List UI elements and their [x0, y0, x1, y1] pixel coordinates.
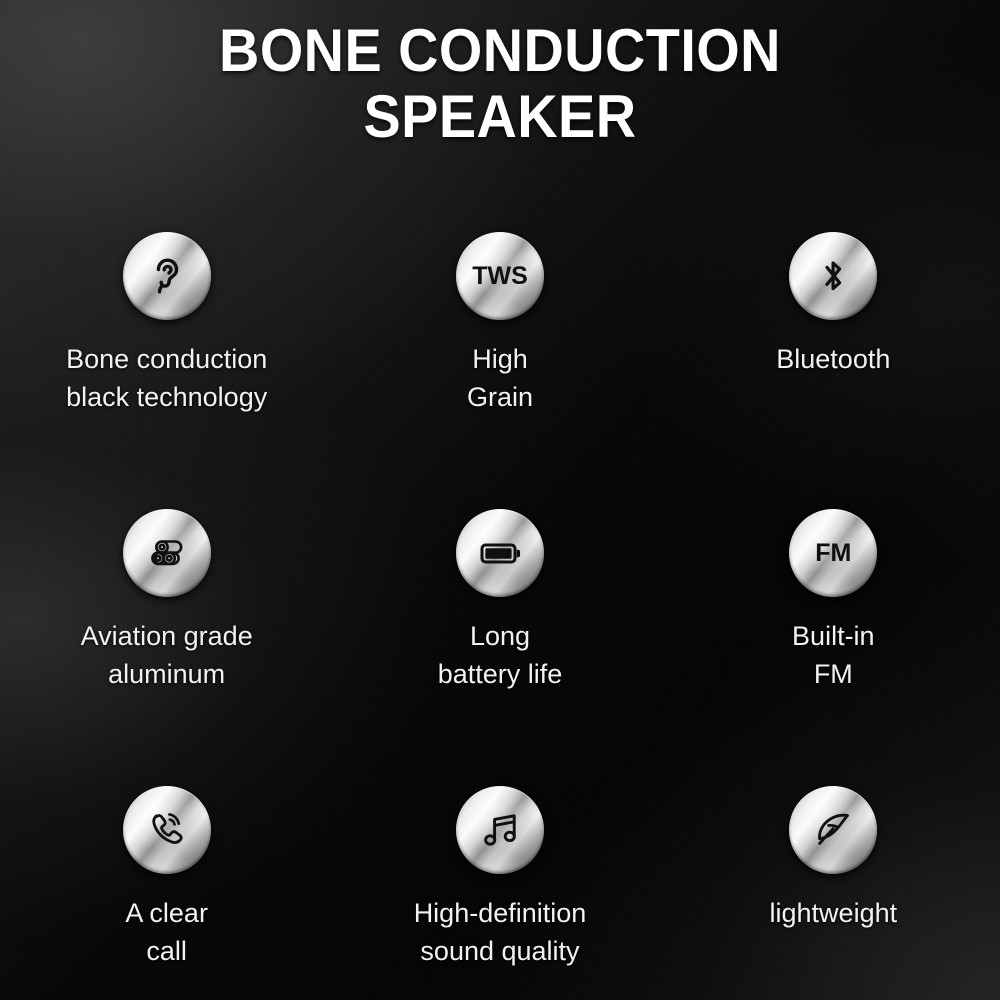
- tws-text-icon: TWS: [472, 264, 528, 289]
- feature-item-bluetooth[interactable]: Bluetooth: [667, 232, 1000, 509]
- feature-row-1: Bone conduction black technology TWS Hig…: [0, 232, 1000, 509]
- feature-icon-disc: [123, 232, 211, 320]
- feature-item-high-grain[interactable]: TWS High Grain: [333, 232, 666, 509]
- feature-item-bone-conduction[interactable]: Bone conduction black technology: [0, 232, 333, 509]
- feature-icon-disc: [789, 232, 877, 320]
- title-line-1: BONE CONDUCTION: [35, 18, 965, 84]
- feature-item-hd-sound[interactable]: High-definition sound quality: [333, 786, 666, 1000]
- feature-caption: Bluetooth: [776, 340, 890, 378]
- feature-icon-disc: [456, 786, 544, 874]
- feature-icon-disc: [123, 509, 211, 597]
- feature-item-aviation-aluminum[interactable]: Aviation grade aluminum: [0, 509, 333, 786]
- feature-caption: Built-in FM: [792, 617, 875, 693]
- feature-row-2: Aviation grade aluminum Long battery lif…: [0, 509, 1000, 786]
- feature-caption: Long battery life: [438, 617, 563, 693]
- fm-text-icon: FM: [815, 541, 851, 566]
- feature-caption: lightweight: [770, 894, 898, 932]
- feature-icon-disc: TWS: [456, 232, 544, 320]
- feature-icon-disc: [789, 786, 877, 874]
- feature-item-long-battery[interactable]: Long battery life: [333, 509, 666, 786]
- feature-item-built-in-fm[interactable]: FM Built-in FM: [667, 509, 1000, 786]
- feather-icon: [809, 806, 857, 854]
- battery-icon: [474, 527, 526, 579]
- feature-caption: Aviation grade aluminum: [81, 617, 253, 693]
- feature-caption: High-definition sound quality: [414, 894, 587, 970]
- bluetooth-icon: [810, 253, 856, 299]
- ear-icon: [144, 253, 190, 299]
- feature-caption: Bone conduction black technology: [66, 340, 267, 416]
- feature-item-clear-call[interactable]: A clear call: [0, 786, 333, 1000]
- music-note-icon: [476, 806, 524, 854]
- page-title: BONE CONDUCTION SPEAKER: [0, 18, 1000, 150]
- feature-item-lightweight[interactable]: lightweight: [667, 786, 1000, 1000]
- product-infographic-poster: BONE CONDUCTION SPEAKER Bone conduct: [0, 0, 1000, 1000]
- phone-call-icon: [142, 805, 192, 855]
- feature-icon-disc: [123, 786, 211, 874]
- feature-row-3: A clear call High-definition sound quali…: [0, 786, 1000, 1000]
- feature-icon-disc: FM: [789, 509, 877, 597]
- aluminum-tubes-icon: [142, 528, 192, 578]
- title-line-2: SPEAKER: [35, 84, 965, 150]
- feature-caption: High Grain: [467, 340, 533, 416]
- feature-grid: Bone conduction black technology TWS Hig…: [0, 232, 1000, 1000]
- feature-icon-disc: [456, 509, 544, 597]
- feature-caption: A clear call: [125, 894, 208, 970]
